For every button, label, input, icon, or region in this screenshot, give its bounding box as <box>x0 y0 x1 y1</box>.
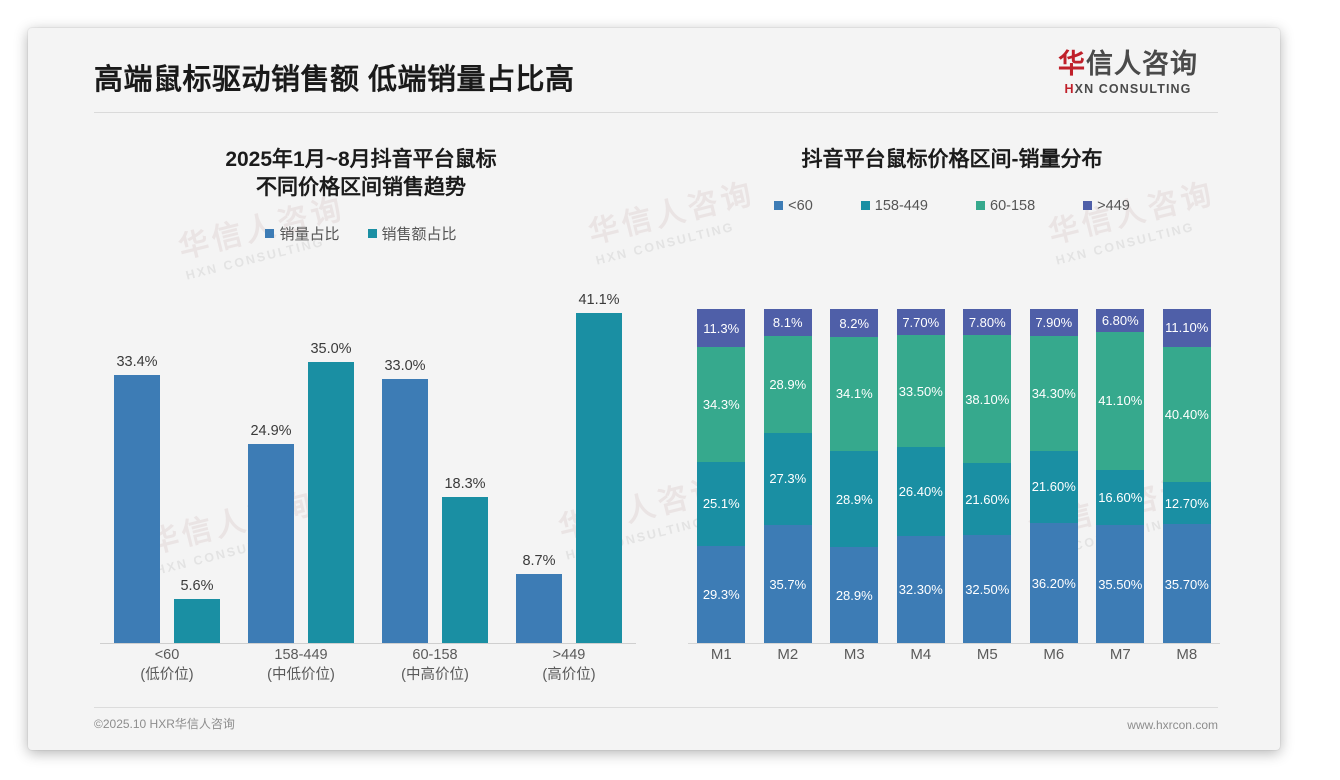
bar-group: 33.0%18.3% <box>368 282 502 644</box>
bar-item[interactable]: 33.4% <box>114 282 160 644</box>
x-axis-tick-label: M6 <box>1021 646 1088 676</box>
stack-segment[interactable]: 36.20% <box>1030 523 1078 644</box>
stacked-bar[interactable]: 11.10%40.40%12.70%35.70% <box>1163 309 1211 644</box>
slide-canvas: 华信人咨询 HXN CONSULTING 华信人咨询 HXN CONSULTIN… <box>28 28 1280 750</box>
logo-en-rest: XN CONSULTING <box>1075 82 1192 96</box>
x-axis-tick-label: 60-158(中高价位) <box>368 646 502 682</box>
legend-label: 销量占比 <box>279 223 339 244</box>
x-axis-tick-label: M7 <box>1087 646 1154 676</box>
legend-swatch-icon <box>774 201 783 210</box>
footer-website: www.hxrcon.com <box>1127 718 1218 732</box>
bar-value-label: 41.1% <box>578 292 619 308</box>
stack-column: 8.1%28.9%27.3%35.7% <box>755 288 822 644</box>
stack-segment[interactable]: 34.1% <box>830 337 878 451</box>
bar-item[interactable]: 8.7% <box>516 282 562 644</box>
stack-column: 7.90%34.30%21.60%36.20% <box>1021 288 1088 644</box>
legend-label: 158-449 <box>875 198 928 214</box>
x-axis-tick-label: M8 <box>1154 646 1221 676</box>
stack-segment[interactable]: 34.3% <box>697 347 745 462</box>
stack-column: 8.2%34.1%28.9%28.9% <box>821 288 888 644</box>
footer-copyright: ©2025.10 HXR华信人咨询 <box>94 715 235 732</box>
stack-segment[interactable]: 16.60% <box>1096 470 1144 526</box>
bar-value-label: 35.0% <box>310 341 351 357</box>
company-logo: 华信人咨询 HXN CONSULTING <box>1038 50 1218 96</box>
stack-column: 7.80%38.10%21.60%32.50% <box>954 288 1021 644</box>
bar-group: 8.7%41.1% <box>502 282 636 644</box>
chart-title-left-line2: 不同价格区间销售趋势 <box>68 174 654 202</box>
stacked-bar[interactable]: 6.80%41.10%16.60%35.50% <box>1096 309 1144 644</box>
legend-item[interactable]: <60 <box>774 198 813 214</box>
stack-segment[interactable]: 11.3% <box>697 309 745 347</box>
bar-group: 33.4%5.6% <box>100 282 234 644</box>
bar-item[interactable]: 41.1% <box>576 282 622 644</box>
x-axis-labels: M1M2M3M4M5M6M7M8 <box>688 646 1220 676</box>
chart-legend-left: 销量占比销售额占比 <box>68 223 654 244</box>
chart-title-left: 2025年1月~8月抖音平台鼠标 不同价格区间销售趋势 <box>68 132 654 201</box>
legend-label: >449 <box>1097 198 1130 214</box>
stack-column: 6.80%41.10%16.60%35.50% <box>1087 288 1154 644</box>
stack-segment[interactable]: 32.50% <box>963 535 1011 644</box>
stack-segment[interactable]: 7.90% <box>1030 309 1078 335</box>
logo-chinese: 华信人咨询 <box>1038 50 1218 78</box>
bar-rect[interactable] <box>174 599 220 644</box>
stack-segment[interactable]: 25.1% <box>697 462 745 546</box>
chart-plot-left: 33.4%5.6%24.9%35.0%33.0%18.3%8.7%41.1% <… <box>82 282 644 682</box>
legend-item[interactable]: >449 <box>1083 198 1130 214</box>
stack-segment[interactable]: 21.60% <box>1030 451 1078 523</box>
x-axis-labels: <60(低价位)158-449(中低价位)60-158(中高价位)>449(高价… <box>100 646 636 682</box>
stack-column: 11.10%40.40%12.70%35.70% <box>1154 288 1221 644</box>
stack-segment[interactable]: 28.9% <box>830 451 878 548</box>
chart-legend-right: <60158-44960-158>449 <box>664 198 1240 214</box>
stack-segment[interactable]: 27.3% <box>764 433 812 524</box>
x-axis-tick-label: M1 <box>688 646 755 676</box>
x-axis-line <box>100 643 636 644</box>
bar-rect[interactable] <box>382 379 428 644</box>
legend-label: <60 <box>788 198 813 214</box>
stacked-bar[interactable]: 7.70%33.50%26.40%32.30% <box>897 309 945 644</box>
slide-header: 高端鼠标驱动销售额 低端销量占比高 华信人咨询 HXN CONSULTING <box>28 28 1280 114</box>
x-axis-tick-label: M4 <box>888 646 955 676</box>
stack-segment[interactable]: 34.30% <box>1030 336 1078 451</box>
footer-divider <box>94 707 1218 708</box>
stack-segment[interactable]: 6.80% <box>1096 309 1144 332</box>
stack-segment[interactable]: 35.70% <box>1163 524 1211 644</box>
bar-group: 24.9%35.0% <box>234 282 368 644</box>
x-axis-tick-label: >449(高价位) <box>502 646 636 682</box>
stack-segment[interactable]: 21.60% <box>963 463 1011 535</box>
stack-segment[interactable]: 8.2% <box>830 309 878 336</box>
logo-en-red: H <box>1065 82 1075 96</box>
logo-cn-rest: 信人咨询 <box>1086 49 1198 79</box>
bar-rect[interactable] <box>248 444 294 644</box>
bar-rect[interactable] <box>516 574 562 644</box>
legend-swatch-icon <box>368 229 377 238</box>
legend-label: 60-158 <box>990 198 1035 214</box>
legend-swatch-icon <box>861 201 870 210</box>
bar-item[interactable]: 18.3% <box>442 282 488 644</box>
stack-segment[interactable]: 35.50% <box>1096 525 1144 644</box>
stack-segment[interactable]: 26.40% <box>897 447 945 535</box>
stack-segment[interactable]: 12.70% <box>1163 482 1211 525</box>
x-axis-line <box>688 643 1220 644</box>
legend-item[interactable]: 158-449 <box>861 198 928 214</box>
x-axis-tick-label: M5 <box>954 646 1021 676</box>
bar-item[interactable]: 5.6% <box>174 282 220 644</box>
stack-segment[interactable]: 8.1% <box>764 309 812 336</box>
bar-rect[interactable] <box>442 497 488 644</box>
chart-panel-right: 抖音平台鼠标价格区间-销量分布 <60158-44960-158>449 11.… <box>664 132 1240 702</box>
legend-swatch-icon <box>1083 201 1092 210</box>
legend-item[interactable]: 60-158 <box>976 198 1035 214</box>
bar-item[interactable]: 24.9% <box>248 282 294 644</box>
stack-segment[interactable]: 28.9% <box>764 336 812 433</box>
legend-item[interactable]: 销售额占比 <box>368 223 457 244</box>
bar-item[interactable]: 35.0% <box>308 282 354 644</box>
bar-value-label: 18.3% <box>444 476 485 492</box>
stack-segment[interactable]: 32.30% <box>897 536 945 644</box>
bar-value-label: 33.4% <box>116 354 157 370</box>
stack-segment[interactable]: 29.3% <box>697 546 745 644</box>
stack-column: 11.3%34.3%25.1%29.3% <box>688 288 755 644</box>
bar-value-label: 24.9% <box>250 423 291 439</box>
stacked-bar[interactable]: 7.80%38.10%21.60%32.50% <box>963 309 1011 644</box>
x-axis-tick-label: <60(低价位) <box>100 646 234 682</box>
stack-segment[interactable]: 38.10% <box>963 335 1011 462</box>
stacked-bar[interactable]: 8.2%34.1%28.9%28.9% <box>830 309 878 644</box>
stack-segment[interactable]: 41.10% <box>1096 332 1144 470</box>
x-axis-tick-label: M3 <box>821 646 888 676</box>
legend-swatch-icon <box>265 229 274 238</box>
stacked-bar[interactable]: 7.90%34.30%21.60%36.20% <box>1030 309 1078 644</box>
legend-item[interactable]: 销量占比 <box>265 223 339 244</box>
chart-panel-left: 2025年1月~8月抖音平台鼠标 不同价格区间销售趋势 销量占比销售额占比 33… <box>68 132 654 702</box>
logo-cn-red: 华 <box>1058 49 1086 79</box>
stacked-bar[interactable]: 8.1%28.9%27.3%35.7% <box>764 309 812 644</box>
bar-value-label: 8.7% <box>522 553 555 569</box>
x-axis-tick-label: 158-449(中低价位) <box>234 646 368 682</box>
legend-swatch-icon <box>976 201 985 210</box>
stacked-bars: 11.3%34.3%25.1%29.3%8.1%28.9%27.3%35.7%8… <box>688 288 1220 644</box>
chart-plot-right: 11.3%34.3%25.1%29.3%8.1%28.9%27.3%35.7%8… <box>674 282 1230 682</box>
legend-label: 销售额占比 <box>382 223 457 244</box>
stacked-bar[interactable]: 11.3%34.3%25.1%29.3% <box>697 309 745 644</box>
logo-english: HXN CONSULTING <box>1038 82 1218 96</box>
bar-item[interactable]: 33.0% <box>382 282 428 644</box>
stack-segment[interactable]: 7.70% <box>897 309 945 335</box>
stack-segment[interactable]: 28.9% <box>830 547 878 644</box>
header-divider <box>94 112 1218 113</box>
stack-segment[interactable]: 35.7% <box>764 525 812 644</box>
page-title: 高端鼠标驱动销售额 低端销量占比高 <box>94 56 575 98</box>
x-axis-tick-label: M2 <box>755 646 822 676</box>
stack-segment[interactable]: 33.50% <box>897 335 945 447</box>
bar-rect[interactable] <box>576 313 622 644</box>
bar-rect[interactable] <box>114 375 160 644</box>
bar-value-label: 33.0% <box>384 358 425 374</box>
stack-column: 7.70%33.50%26.40%32.30% <box>888 288 955 644</box>
stack-segment[interactable]: 40.40% <box>1163 347 1211 482</box>
stack-segment[interactable]: 7.80% <box>963 309 1011 335</box>
chart-title-left-line1: 2025年1月~8月抖音平台鼠标 <box>68 146 654 174</box>
stack-segment[interactable]: 11.10% <box>1163 309 1211 346</box>
chart-title-right: 抖音平台鼠标价格区间-销量分布 <box>664 132 1240 174</box>
bar-value-label: 5.6% <box>180 578 213 594</box>
bar-groups: 33.4%5.6%24.9%35.0%33.0%18.3%8.7%41.1% <box>100 282 636 644</box>
bar-rect[interactable] <box>308 362 354 644</box>
